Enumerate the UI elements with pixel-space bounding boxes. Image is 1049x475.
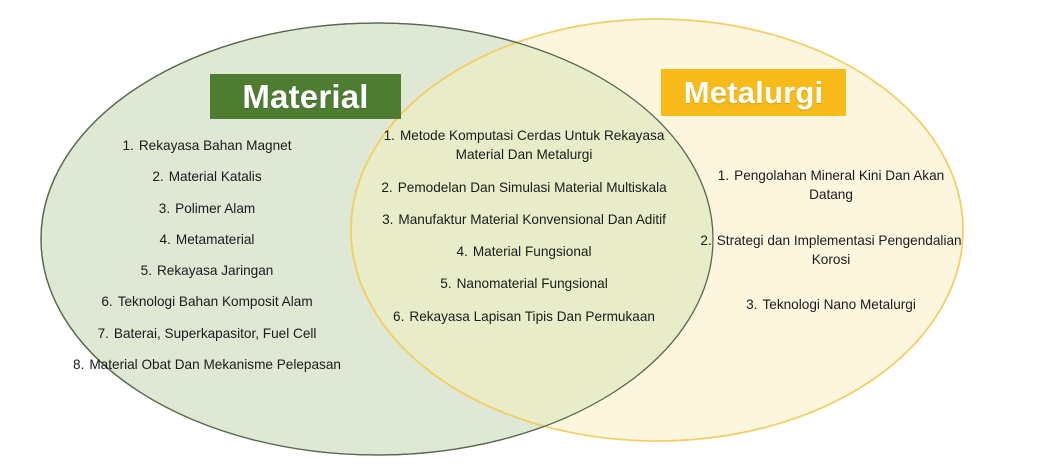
list-item-number: 3. [746, 295, 757, 314]
list-item-text: Material Fungsional [473, 244, 592, 259]
list-item: 5.Nanomaterial Fungsional [374, 274, 674, 293]
list-item-number: 1. [718, 166, 729, 185]
list-item-text: Pemodelan Dan Simulasi Material Multiska… [398, 180, 667, 195]
left-set-list: 1.Rekayasa Bahan Magnet 2.Material Katal… [42, 136, 372, 386]
list-item: 3.Manufaktur Material Konvensional Dan A… [374, 210, 674, 229]
list-item-text: Metamaterial [176, 232, 255, 247]
list-item-number: 2. [152, 167, 163, 186]
intersection-list: 1.Metode Komputasi Cerdas Untuk Rekayasa… [374, 126, 674, 339]
list-item-text: Rekayasa Jaringan [157, 263, 273, 278]
venn-diagram-canvas: Material Metalurgi 1.Rekayasa Bahan Magn… [0, 0, 1049, 475]
list-item-number: 3. [159, 199, 170, 218]
list-item: 2.Strategi dan Implementasi Pengendalian… [697, 231, 965, 270]
list-item-text: Teknologi Bahan Komposit Alam [118, 294, 313, 309]
list-item-number: 6. [393, 307, 404, 326]
list-item-text: Pengolahan Mineral Kini Dan Akan Datang [734, 168, 944, 202]
list-item: 3.Polimer Alam [42, 199, 372, 218]
list-item: 3.Teknologi Nano Metalurgi [697, 295, 965, 314]
list-item-text: Polimer Alam [175, 201, 255, 216]
list-item-text: Teknologi Nano Metalurgi [762, 297, 915, 312]
list-item-number: 4. [457, 242, 468, 261]
list-item-number: 6. [101, 292, 112, 311]
list-item-number: 8. [73, 355, 84, 374]
list-item-number: 2. [381, 178, 392, 197]
list-item: 6.Rekayasa Lapisan Tipis Dan Permukaan [374, 307, 674, 326]
list-item-text: Rekayasa Lapisan Tipis Dan Permukaan [409, 309, 655, 324]
list-item: 1.Pengolahan Mineral Kini Dan Akan Datan… [697, 166, 965, 205]
list-item-text: Material Katalis [169, 169, 262, 184]
list-item: 1.Metode Komputasi Cerdas Untuk Rekayasa… [374, 126, 674, 165]
list-item-number: 1. [123, 136, 134, 155]
list-item-text: Rekayasa Bahan Magnet [139, 138, 292, 153]
right-set-title-text: Metalurgi [684, 75, 824, 111]
list-item: 7.Baterai, Superkapasitor, Fuel Cell [42, 324, 372, 343]
right-set-title-label: Metalurgi [661, 69, 846, 116]
list-item-number: 4. [160, 230, 171, 249]
list-item-number: 2. [700, 231, 711, 250]
list-item: 2.Pemodelan Dan Simulasi Material Multis… [374, 178, 674, 197]
left-set-title-label: Material [210, 74, 401, 119]
list-item-text: Material Obat Dan Mekanisme Pelepasan [89, 357, 341, 372]
list-item: 1.Rekayasa Bahan Magnet [42, 136, 372, 155]
list-item-number: 5. [440, 274, 451, 293]
right-set-list: 1.Pengolahan Mineral Kini Dan Akan Datan… [697, 166, 965, 340]
list-item: 6.Teknologi Bahan Komposit Alam [42, 292, 372, 311]
list-item-text: Baterai, Superkapasitor, Fuel Cell [114, 326, 317, 341]
list-item: 4.Metamaterial [42, 230, 372, 249]
list-item-number: 3. [382, 210, 393, 229]
list-item-number: 5. [141, 261, 152, 280]
list-item-text: Manufaktur Material Konvensional Dan Adi… [398, 212, 666, 227]
left-set-title-text: Material [242, 78, 368, 116]
list-item-text: Strategi dan Implementasi Pengendalian K… [717, 233, 962, 267]
list-item-text: Nanomaterial Fungsional [457, 276, 608, 291]
list-item: 5.Rekayasa Jaringan [42, 261, 372, 280]
list-item-number: 7. [98, 324, 109, 343]
list-item: 2.Material Katalis [42, 167, 372, 186]
list-item: 4.Material Fungsional [374, 242, 674, 261]
list-item-number: 1. [384, 126, 395, 145]
list-item: 8.Material Obat Dan Mekanisme Pelepasan [42, 355, 372, 374]
list-item-text: Metode Komputasi Cerdas Untuk Rekayasa M… [400, 128, 664, 162]
